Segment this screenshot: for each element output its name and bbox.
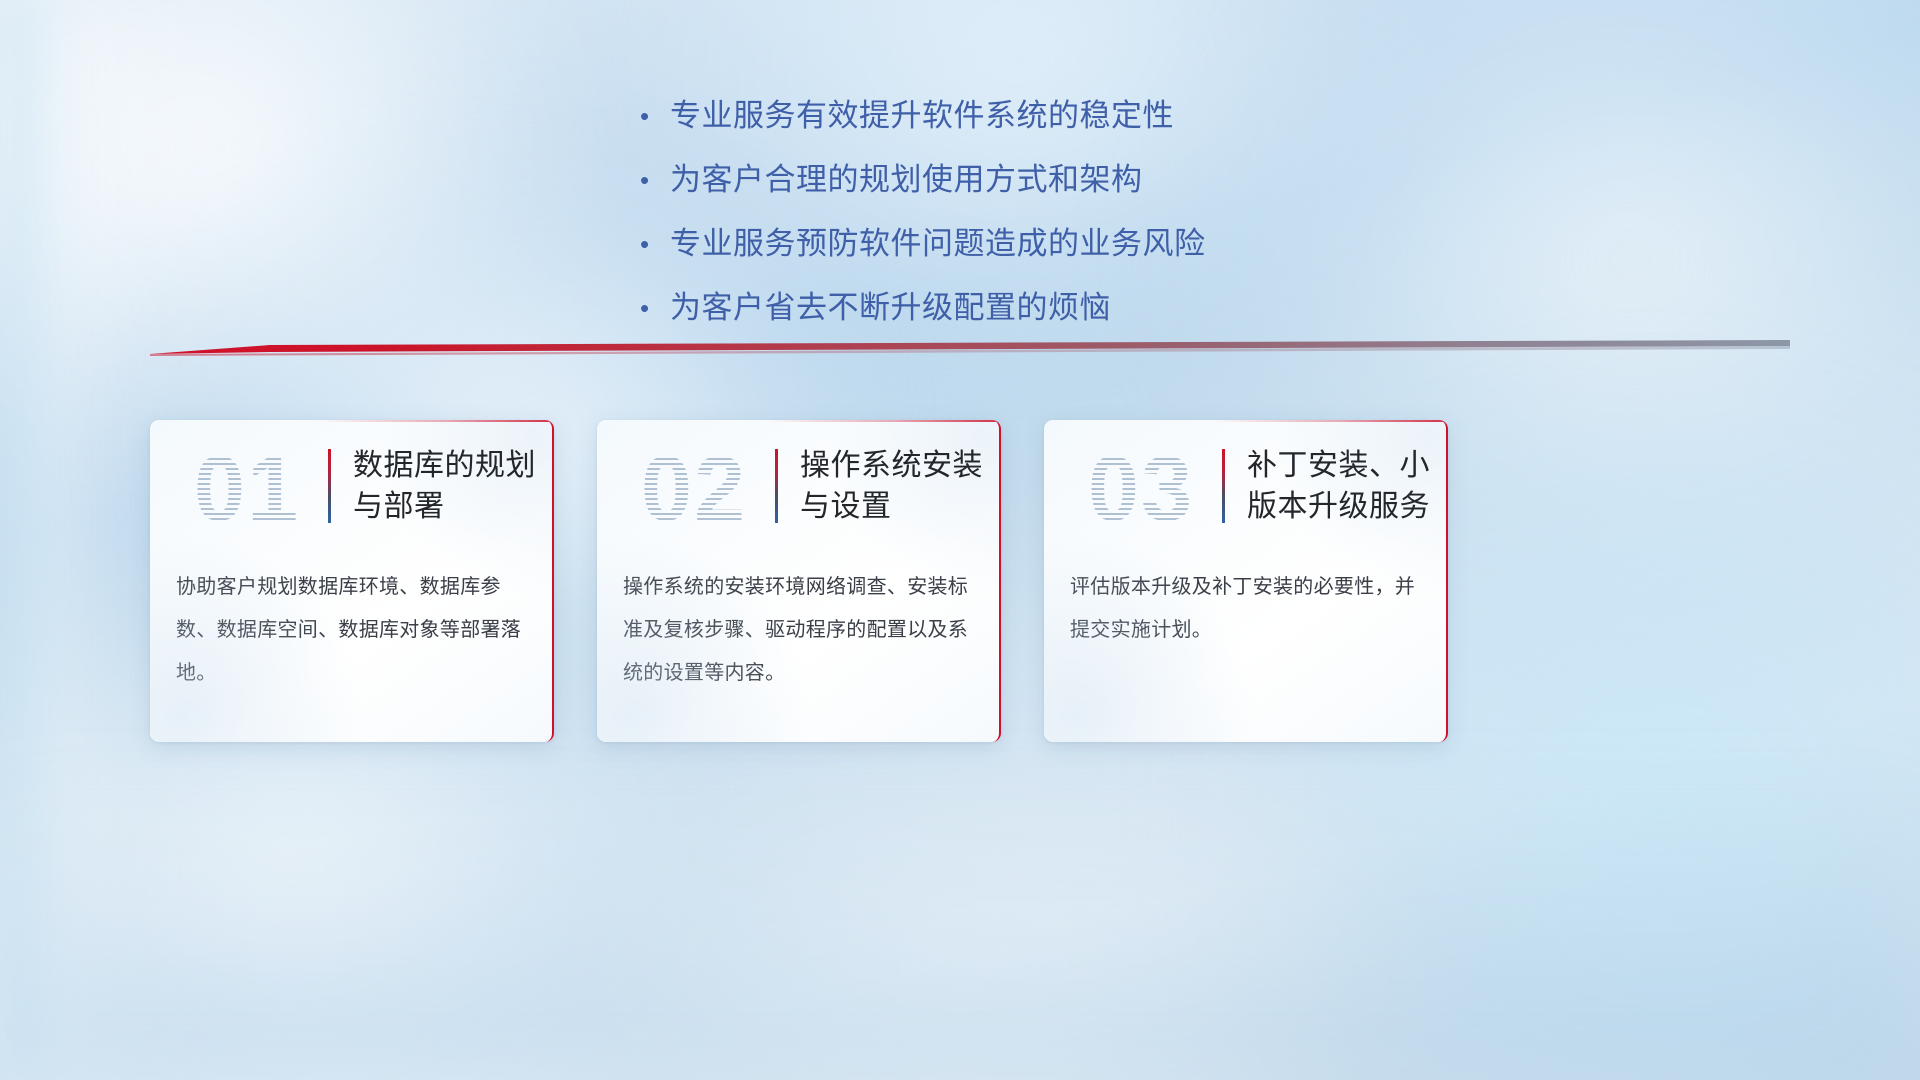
bullet-dot-icon: •: [640, 96, 670, 136]
card-title: 操作系统安装与设置: [800, 445, 999, 527]
card-header: 01 数据库的规划与部署: [150, 420, 552, 552]
list-item: • 为客户合理的规划使用方式和架构: [640, 160, 1400, 224]
card-divider-bar: [1222, 449, 1225, 523]
benefits-bullet-list: • 专业服务有效提升软件系统的稳定性 • 为客户合理的规划使用方式和架构 • 专…: [640, 96, 1400, 352]
service-card[interactable]: 03 补丁安装、小版本升级服务 评估版本升级及补丁安装的必要性，并提交实施计划。: [1044, 420, 1448, 742]
card-title: 补丁安装、小版本升级服务: [1247, 445, 1446, 527]
bullet-dot-icon: •: [640, 224, 670, 264]
card-header: 02 操作系统安装与设置: [597, 420, 999, 552]
list-item-label: 专业服务预防软件问题造成的业务风险: [670, 224, 1206, 264]
card-header: 03 补丁安装、小版本升级服务: [1044, 420, 1446, 552]
bullet-dot-icon: •: [640, 160, 670, 200]
service-card[interactable]: 02 操作系统安装与设置 操作系统的安装环境网络调查、安装标准及复核步骤、驱动程…: [597, 420, 1001, 742]
card-divider-bar: [328, 449, 331, 523]
bullet-dot-icon: •: [640, 288, 670, 328]
card-description: 操作系统的安装环境网络调查、安装标准及复核步骤、驱动程序的配置以及系统的设置等内…: [597, 552, 999, 695]
divider-tapered-line-icon: [150, 340, 1790, 364]
card-number: 01: [172, 437, 322, 535]
card-number: 03: [1066, 437, 1216, 535]
service-cards: 01 数据库的规划与部署 协助客户规划数据库环境、数据库参数、数据库空间、数据库…: [150, 420, 1790, 750]
list-item-label: 专业服务有效提升软件系统的稳定性: [670, 96, 1174, 136]
section-divider: [150, 340, 1790, 372]
list-item: • 专业服务有效提升软件系统的稳定性: [640, 96, 1400, 160]
card-title: 数据库的规划与部署: [353, 445, 552, 527]
list-item-label: 为客户合理的规划使用方式和架构: [670, 160, 1143, 200]
card-divider-bar: [775, 449, 778, 523]
background-bottom-shade: [0, 780, 1920, 1080]
card-description: 协助客户规划数据库环境、数据库参数、数据库空间、数据库对象等部署落地。: [150, 552, 552, 695]
service-card[interactable]: 01 数据库的规划与部署 协助客户规划数据库环境、数据库参数、数据库空间、数据库…: [150, 420, 554, 742]
card-description: 评估版本升级及补丁安装的必要性，并提交实施计划。: [1044, 552, 1446, 652]
list-item: • 专业服务预防软件问题造成的业务风险: [640, 224, 1400, 288]
card-number: 02: [619, 437, 769, 535]
list-item-label: 为客户省去不断升级配置的烦恼: [670, 288, 1111, 328]
